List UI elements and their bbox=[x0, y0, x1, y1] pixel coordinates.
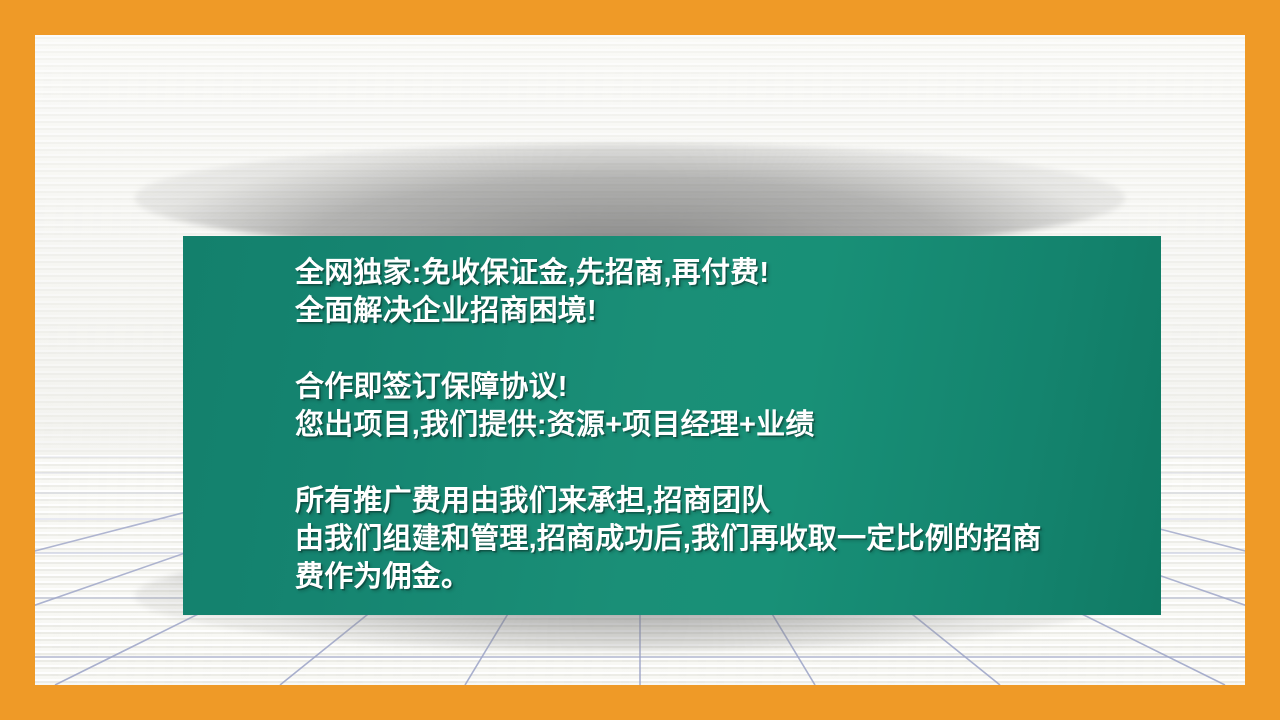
text-block-3: 所有推广费用由我们来承担,招商团队 由我们组建和管理,招商成功后,我们再收取一定… bbox=[295, 482, 1151, 596]
body-line-2: 您出项目,我们提供:资源+项目经理+业绩 bbox=[295, 406, 1151, 444]
slide-stage: 全网独家:免收保证金,先招商,再付费! 全面解决企业招商困境! 合作即签订保障协… bbox=[0, 0, 1280, 720]
headline-line-2: 全面解决企业招商困境! bbox=[295, 292, 1151, 330]
text-block-2: 合作即签订保障协议! 您出项目,我们提供:资源+项目经理+业绩 bbox=[295, 368, 1151, 444]
text-block-1: 全网独家:免收保证金,先招商,再付费! 全面解决企业招商困境! bbox=[295, 254, 1151, 330]
green-content-panel: 全网独家:免收保证金,先招商,再付费! 全面解决企业招商困境! 合作即签订保障协… bbox=[183, 236, 1161, 615]
body-line-4: 由我们组建和管理,招商成功后,我们再收取一定比例的招商 bbox=[295, 520, 1151, 558]
panel-text-container: 全网独家:免收保证金,先招商,再付费! 全面解决企业招商困境! 合作即签订保障协… bbox=[295, 254, 1151, 615]
headline-line-1: 全网独家:免收保证金,先招商,再付费! bbox=[295, 254, 1151, 292]
body-line-5: 费作为佣金。 bbox=[295, 558, 1151, 596]
room-scene: 全网独家:免收保证金,先招商,再付费! 全面解决企业招商困境! 合作即签订保障协… bbox=[35, 35, 1245, 685]
body-line-1: 合作即签订保障协议! bbox=[295, 368, 1151, 406]
body-line-3: 所有推广费用由我们来承担,招商团队 bbox=[295, 482, 1151, 520]
